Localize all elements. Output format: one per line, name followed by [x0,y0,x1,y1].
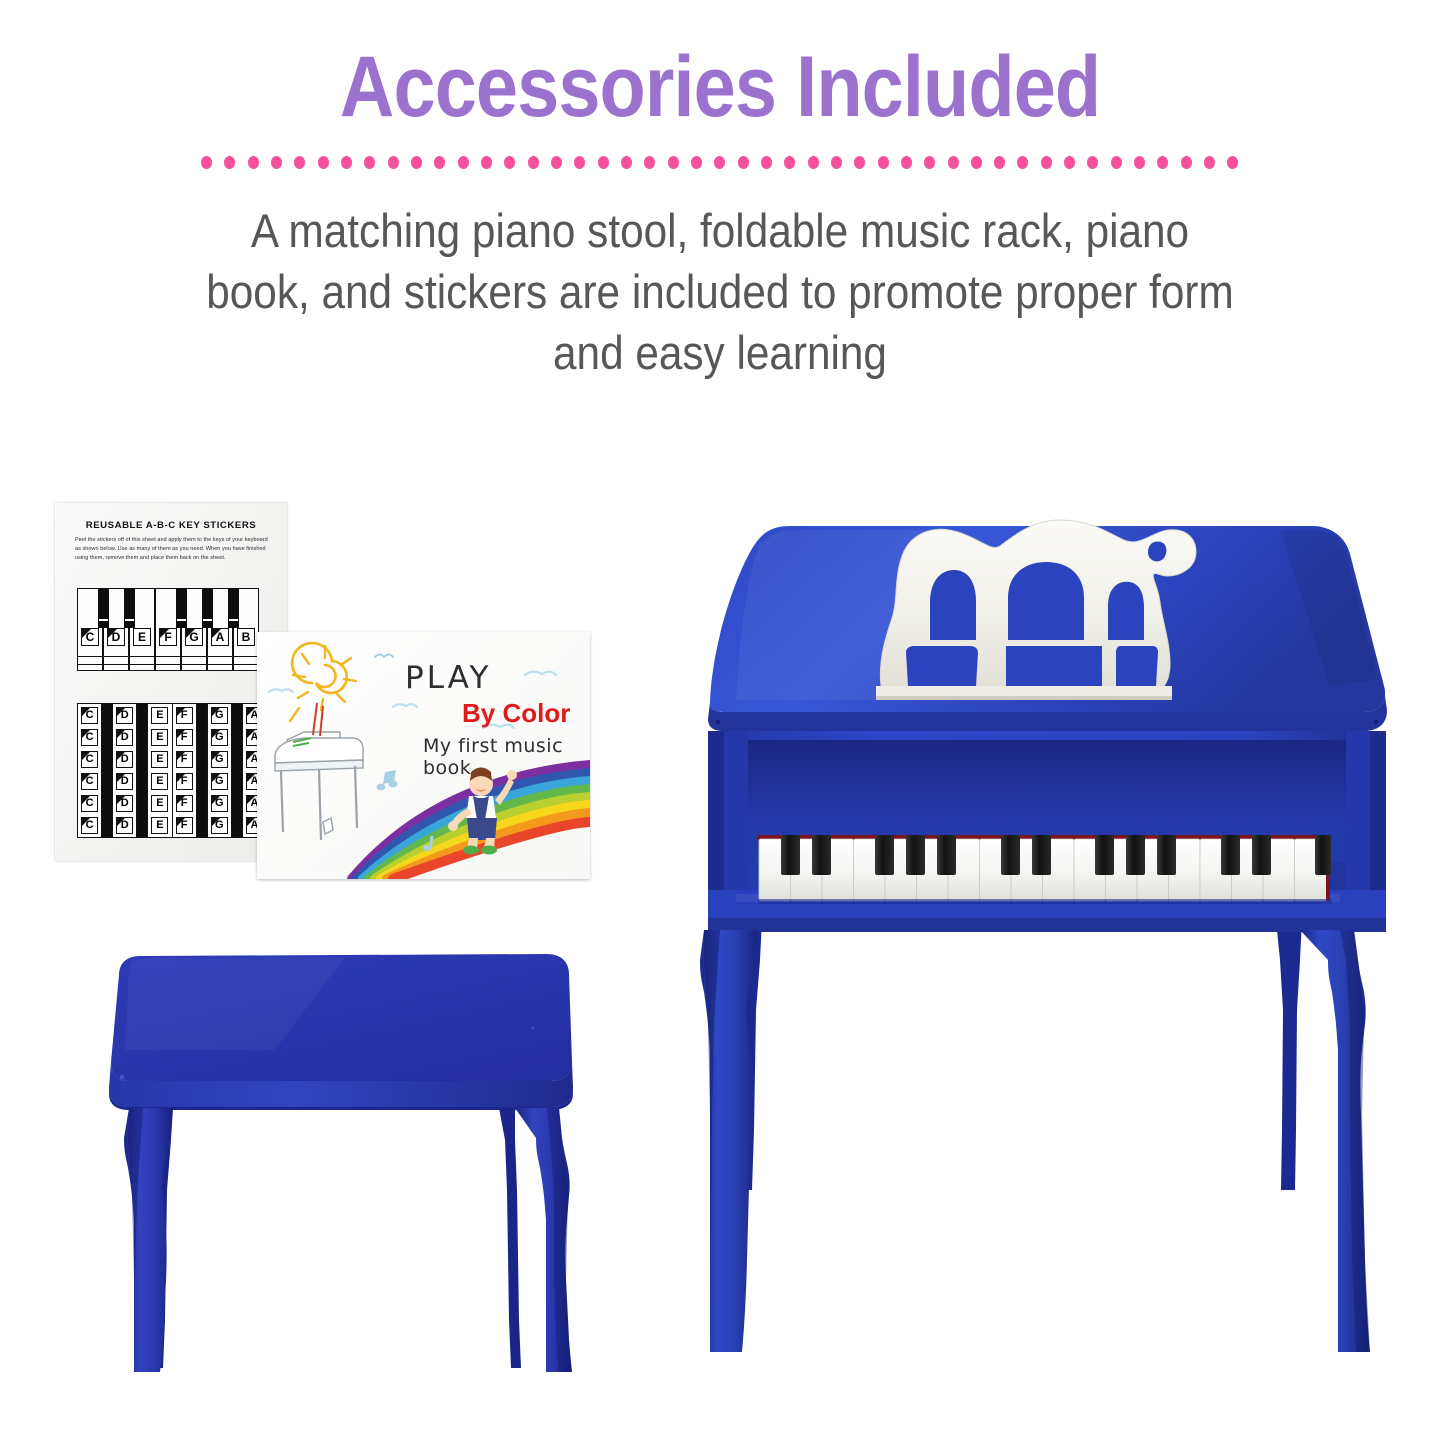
sticker-cell: G [208,726,231,748]
sticker-note-label: G [211,795,228,812]
sticker-cell: G [208,704,231,726]
sticker-cell: C [78,726,101,748]
sticker-note-label: C [81,817,98,834]
sticker-cell: E [148,771,171,793]
divider-dot [1204,156,1215,169]
stool-front-legs [124,1108,572,1372]
divider-dot [201,156,212,169]
divider-dot [528,156,539,169]
diagram-note-label: F [159,628,177,646]
sticker-note-label: E [151,729,168,746]
sticker-black-bar [232,704,243,837]
sticker-black-bar [102,704,113,837]
sticker-note-label: D [116,707,133,724]
diagram-note-label: E [133,628,151,646]
sticker-cell: F [173,726,196,748]
diagram-black-key [228,588,239,628]
divider-dot [668,156,679,169]
toy-grand-piano [640,490,1420,1390]
divider-dot [714,156,725,169]
book-title-bycolor: By Color [462,698,570,729]
divider-dot [994,156,1005,169]
sticker-note-label: F [176,729,193,746]
diagram-note-label: G [185,628,203,646]
sticker-cell: D [113,771,136,793]
music-rack [876,520,1196,700]
divider-dot [691,156,702,169]
stool-illustration [95,940,595,1380]
divider-dot [1227,156,1238,169]
divider-dot [621,156,632,169]
divider-dot [644,156,655,169]
divider-dot [458,156,469,169]
divider-dot [574,156,585,169]
sticker-note-label: D [116,795,133,812]
sticker-note-label: G [211,817,228,834]
sticker-note-label: E [151,795,168,812]
bird-icon [375,655,393,658]
diagram-black-key [124,588,135,628]
diagram-note-label: C [81,628,99,646]
diagram-black-key [98,588,109,628]
piano-keyboard [758,835,1332,904]
piano-sketch-icon [275,732,363,840]
sticker-note-label: F [176,773,193,790]
divider-dot [341,156,352,169]
sticker-black-bar [197,704,208,837]
diagram-black-key [176,588,187,628]
divider-dot [598,156,609,169]
divider-dot [434,156,445,169]
sticker-cell: D [113,726,136,748]
divider-dot [1041,156,1052,169]
divider-dot [761,156,772,169]
divider-dot [504,156,515,169]
sticker-cell: C [78,748,101,770]
sticker-column: EEEEEE [148,704,172,837]
sticker-note-label: D [116,729,133,746]
sticker-cell: C [78,793,101,815]
sticker-cell: G [208,771,231,793]
sticker-note-label: F [176,751,193,768]
diagram-note-label: D [107,628,125,646]
sticker-cell: E [148,793,171,815]
page-title: Accessories Included [86,0,1353,130]
diagram-note-label: A [211,628,229,646]
sticker-column: FFFFFF [173,704,197,837]
divider-dot [224,156,235,169]
sticker-note-label: E [151,707,168,724]
divider-dot [831,156,842,169]
sticker-note-label: D [116,817,133,834]
divider-dot [1157,156,1168,169]
header-section: Accessories Included A matching piano st… [0,0,1440,383]
sticker-cell: E [148,815,171,837]
sticker-note-label: G [211,773,228,790]
sticker-note-label: G [211,751,228,768]
sticker-note-label: G [211,729,228,746]
divider-dot [294,156,305,169]
sticker-black-bar [137,704,148,837]
divider-dot [481,156,492,169]
sticker-note-label: C [81,751,98,768]
divider-dot [248,156,259,169]
sticker-cell: C [78,815,101,837]
diagram-note-label: B [237,628,255,646]
piano-stool [95,940,595,1380]
sticker-note-label: D [116,751,133,768]
sticker-cell: F [173,704,196,726]
diagram-baseline [77,656,267,665]
divider-dot [1181,156,1192,169]
divider-dot [551,156,562,169]
sticker-cell: E [148,748,171,770]
sticker-note-label: E [151,773,168,790]
sticker-note-label: E [151,817,168,834]
dotted-divider [201,154,1239,170]
divider-dot [784,156,795,169]
sticker-note-label: F [176,707,193,724]
sticker-note-label: G [211,707,228,724]
piano-rear-legs [736,920,1302,1190]
sticker-cell: C [78,771,101,793]
divider-dot [1017,156,1028,169]
abc-key-sticker-sheet: REUSABLE A-B-C KEY STICKERS Peel the sti… [55,503,287,861]
sticker-note-label: C [81,773,98,790]
sticker-cell: E [148,704,171,726]
divider-dot [738,156,749,169]
sticker-note-label: C [81,729,98,746]
divider-dot [364,156,375,169]
sticker-cell: C [78,704,101,726]
diagram-black-key [202,588,213,628]
divider-dot [271,156,282,169]
divider-dot [1087,156,1098,169]
divider-dot [318,156,329,169]
sticker-sheet-instructions: Peel the stickers off of this sheet and … [75,536,273,563]
sticker-cell: D [113,815,136,837]
book-title-play: PLAY [405,660,491,696]
sticker-grid: CCCCCCDDDDDDEEEEEEFFFFFFGGGGGGAAAAAA [77,703,267,838]
sticker-cell: G [208,793,231,815]
stool-rear-legs [153,1108,521,1368]
page-subtitle: A matching piano stool, foldable music r… [194,200,1247,383]
divider-dot [388,156,399,169]
sticker-column: GGGGGG [208,704,232,837]
divider-dot [1134,156,1145,169]
sticker-cell: F [173,748,196,770]
sticker-note-label: F [176,817,193,834]
sticker-cell: D [113,704,136,726]
sticker-cell: G [208,815,231,837]
divider-dot [901,156,912,169]
divider-dot [411,156,422,169]
divider-dot [1111,156,1122,169]
divider-dot [948,156,959,169]
sticker-cell: D [113,793,136,815]
stool-seat [109,954,573,1110]
divider-dot [854,156,865,169]
piano-front-legs [700,930,1370,1352]
divider-dot [924,156,935,169]
sticker-column: CCCCCC [78,704,102,837]
sticker-note-label: C [81,707,98,724]
keyboard-diagram: CDEFGAB [77,588,267,671]
sticker-cell: G [208,748,231,770]
divider-dot [1064,156,1075,169]
divider-dot [878,156,889,169]
sticker-note-label: D [116,773,133,790]
sticker-cell: F [173,793,196,815]
sticker-cell: E [148,726,171,748]
book-subtitle: My first music book [423,735,590,779]
divider-dot [971,156,982,169]
sticker-note-label: F [176,795,193,812]
sticker-cell: F [173,815,196,837]
sticker-note-label: C [81,795,98,812]
sticker-cell: D [113,748,136,770]
sticker-note-label: E [151,751,168,768]
sticker-sheet-title: REUSABLE A-B-C KEY STICKERS [55,520,287,531]
divider-dot [808,156,819,169]
sticker-cell: F [173,771,196,793]
sticker-column: DDDDDD [113,704,137,837]
play-by-color-music-book: PLAY By Color My first music book [257,632,590,879]
piano-illustration [640,490,1420,1390]
